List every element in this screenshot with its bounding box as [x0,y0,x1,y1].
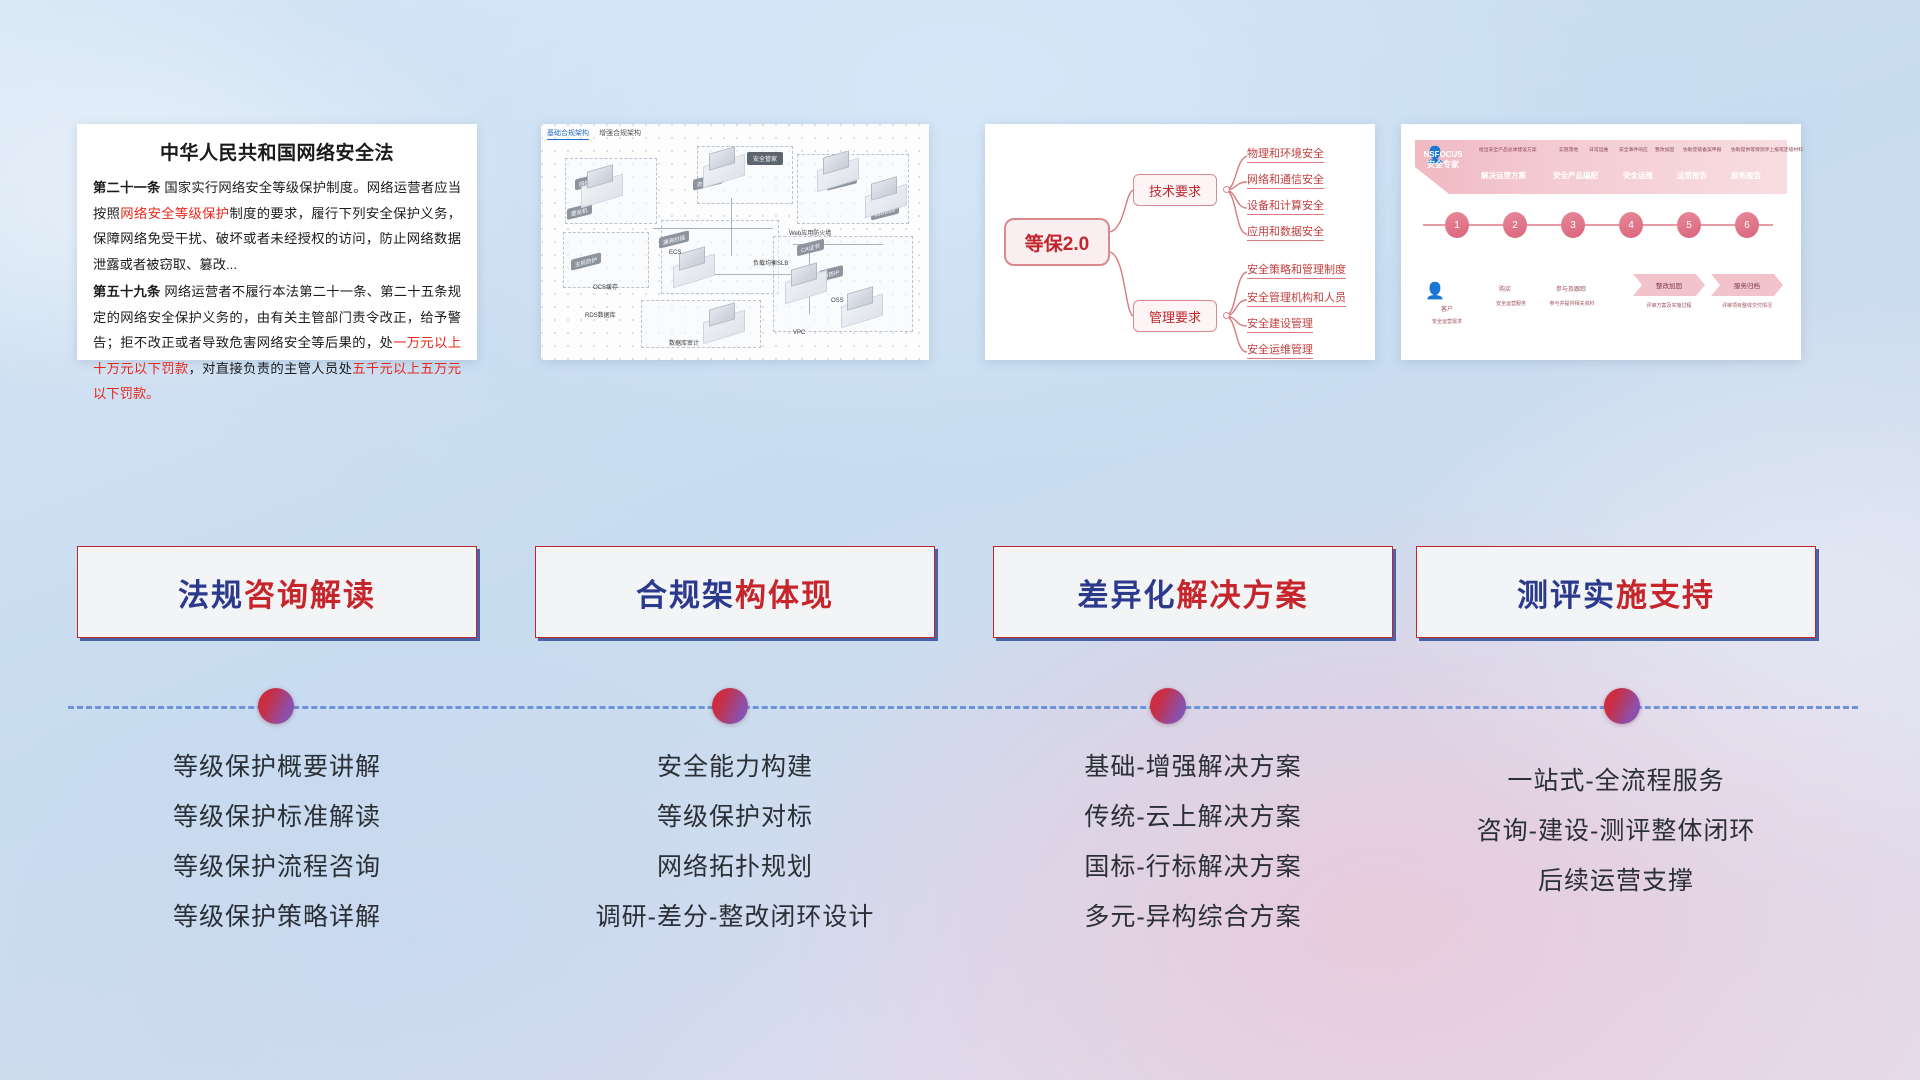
mindmap-dot-management [1223,312,1230,319]
list-item: 后续运营支撑 [1416,856,1816,906]
list-item: 等级保护流程咨询 [77,842,477,892]
roadmap-diagram: 👤 NSFOCUS 安全专家 给出安全产品总体建设方案 实施落地 日常运维 安全… [1401,124,1801,360]
mindmap-root: 等保2.0 [1004,218,1110,266]
roadmap-chevron-1-sub: 评审项目整体交付情况 [1707,302,1787,309]
roadmap-step-5: 5 [1677,212,1701,238]
roadmap-note-2: 日常运维 [1589,146,1608,153]
roadmap-tag-2: 安全运维 [1623,170,1653,181]
timeline-dot-1[interactable] [258,688,294,724]
customer-icon: 👤 [1427,280,1443,302]
label-rds: RDS数据库 [585,310,616,319]
card-service-roadmap[interactable]: 👤 NSFOCUS 安全专家 给出安全产品总体建设方案 实施落地 日常运维 安全… [1401,124,1801,360]
section-header-4-title: 测评实施支持 [1517,570,1715,615]
section-header-2-blue: 合规架 [636,578,735,613]
roadmap-chevron-0: 整改加固 [1633,274,1705,296]
timeline-dot-4[interactable] [1604,688,1640,724]
section-header-1-red: 咨询解读 [244,578,376,613]
timeline [0,688,1920,728]
mindmap-leaf-network-comm: 网络和通信安全 [1247,174,1324,189]
mindmap: 等保2.0 技术要求 物理和环境安全 网络和通信安全 设备和计算安全 应用和数据… [985,124,1375,360]
list-item: 等级保护策略详解 [77,892,477,942]
list-item: 调研-差分-整改闭环设计 [535,892,935,942]
roadmap-note-1: 实施落地 [1559,146,1578,153]
roadmap-tag-4: 服务报告 [1731,170,1761,181]
brand-sub: 安全专家 [1421,160,1465,170]
label-vpc: VPC [793,330,805,336]
roadmap-step-4: 4 [1619,212,1643,238]
law-article-59: 第五十九条 网络运营者不履行本法第二十一条、第二十五条规定的网络安全保护义务的，… [93,279,461,407]
mindmap-leaf-policy-system: 安全策略和管理制度 [1247,264,1346,279]
mindmap-leaf-construction: 安全建设管理 [1247,318,1313,333]
roadmap-step-3: 3 [1561,212,1585,238]
label-oss: OSS [831,298,844,304]
roadmap-chevron-1: 服务归档 [1711,274,1783,296]
section-header-2-title: 合规架构体现 [636,570,834,615]
list-item: 一站式-全流程服务 [1416,756,1816,806]
roadmap-footer-0: 购买 [1483,284,1527,293]
detail-list-1: 等级保护概要讲解 等级保护标准解读 等级保护流程咨询 等级保护策略详解 [77,742,477,942]
list-item: 网络拓扑规划 [535,842,935,892]
roadmap-step-2: 2 [1503,212,1527,238]
label-db-audit: 数据库审计 [669,338,699,347]
roadmap-tag-3: 运营报告 [1677,170,1707,181]
law-article-21: 第二十一条 国家实行网络安全等级保护制度。网络运营者应当按照网络安全等级保护制度… [93,175,461,277]
detail-lists-row: 等级保护概要讲解 等级保护标准解读 等级保护流程咨询 等级保护策略详解 安全能力… [0,742,1920,962]
section-header-3-blue: 差异化 [1078,578,1177,613]
brand-name: NSFOCUS [1421,150,1465,160]
tab-enhanced-compliance[interactable]: 增强合规架构 [599,128,641,140]
roadmap-note-4: 整改加固 [1655,146,1674,153]
section-header-1-title: 法规咨询解读 [178,570,376,615]
timeline-dot-3[interactable] [1150,688,1186,724]
card-cybersecurity-law[interactable]: 中华人民共和国网络安全法 第二十一条 国家实行网络安全等级保护制度。网络运营者应… [77,124,477,360]
section-header-4-blue: 测评实 [1517,578,1616,613]
architecture-diagram: 基础合规架构 增强合规架构 安全管家 态势感知 网络 1.0 堡垒机 内容安全 … [541,124,929,360]
list-item: 安全能力构建 [535,742,935,792]
wire-h1 [653,228,773,229]
list-item: 传统-云上解决方案 [993,792,1393,842]
list-item: 国标-行标解决方案 [993,842,1393,892]
roadmap-footer-role-note: 安全运营需求 [1411,318,1483,325]
mindmap-leaf-app-data: 应用和数据安全 [1247,226,1324,241]
roadmap-note-0: 给出安全产品总体建设方案 [1479,146,1537,153]
card-cloud-architecture[interactable]: 基础合规架构 增强合规架构 安全管家 态势感知 网络 1.0 堡垒机 内容安全 … [541,124,929,360]
roadmap-tag-0: 解决运营方案 [1481,170,1526,181]
roadmap-step-1: 1 [1445,212,1469,238]
mindmap-leaf-device-compute: 设备和计算安全 [1247,200,1324,215]
label-slb: 负载均衡SLB [753,258,788,267]
section-headers-row: 法规咨询解读 合规架构体现 差异化解决方案 测评实施支持 [0,546,1920,642]
detail-list-3: 基础-增强解决方案 传统-云上解决方案 国标-行标解决方案 多元-异构综合方案 [993,742,1393,942]
roadmap-footer-1-sub: 参与并提供相关资料 [1541,300,1603,307]
list-item: 等级保护对标 [535,792,935,842]
mindmap-branch-technical: 技术要求 [1133,174,1217,206]
mindmap-leaf-org-personnel: 安全管理机构和人员 [1247,292,1346,307]
list-item: 等级保护标准解读 [77,792,477,842]
card-mindmap-dengbao[interactable]: 等保2.0 技术要求 物理和环境安全 网络和通信安全 设备和计算安全 应用和数据… [985,124,1375,360]
roadmap-footer-1: 参与及跟踪 [1543,284,1599,293]
timeline-dashed-line [68,706,1858,709]
roadmap-chevron-0-sub: 评审方案及实施过程 [1629,302,1709,309]
tab-basic-compliance[interactable]: 基础合规架构 [547,128,589,140]
architecture-tabs: 基础合规架构 增强合规架构 [547,128,641,140]
mindmap-leaf-physical-env: 物理和环境安全 [1247,148,1324,163]
roadmap-note-3: 安全事件响应 [1619,146,1648,153]
section-header-4-red: 施支持 [1616,578,1715,613]
roadmap-footer-0-sub: 安全运营服务 [1483,300,1539,307]
mindmap-dot-technical [1223,186,1230,193]
roadmap-axis [1423,224,1773,226]
list-item: 等级保护概要讲解 [77,742,477,792]
roadmap-step-6: 6 [1735,212,1759,238]
list-item: 咨询-建设-测评整体闭环 [1416,806,1816,856]
section-header-1[interactable]: 法规咨询解读 [77,546,477,638]
reference-cards-row: 中华人民共和国网络安全法 第二十一条 国家实行网络安全等级保护制度。网络运营者应… [0,124,1920,364]
label-ocs-cache: OCS缓存 [593,282,618,291]
roadmap-footer-role: 客户 [1421,304,1473,313]
detail-list-4: 一站式-全流程服务 咨询-建设-测评整体闭环 后续运营支撑 [1416,742,1816,906]
roadmap-note-6: 协助提供等保测评上报或定级材料 [1731,146,1803,153]
timeline-dot-2[interactable] [712,688,748,724]
law-title: 中华人民共和国网络安全法 [93,138,461,165]
section-header-1-blue: 法规 [178,578,244,613]
article-21-highlight: 网络安全等级保护 [120,206,229,221]
label-waf: Web应用防火墙 [789,228,831,237]
law-document: 中华人民共和国网络安全法 第二十一条 国家实行网络安全等级保护制度。网络运营者应… [77,124,477,360]
roadmap-brand: NSFOCUS 安全专家 [1421,150,1465,169]
detail-list-2: 安全能力构建 等级保护对标 网络拓扑规划 调研-差分-整改闭环设计 [535,742,935,942]
section-header-2-red: 构体现 [735,578,834,613]
section-header-4[interactable]: 测评实施支持 [1416,546,1816,638]
label-ecs: ECS [669,250,681,256]
article-59-text-b: ，对直接负责的主管人员处 [189,361,353,376]
mindmap-leaf-operations: 安全运维管理 [1247,344,1313,359]
article-59-label: 第五十九条 [93,284,160,299]
section-header-3-title: 差异化解决方案 [1078,570,1309,615]
list-item: 基础-增强解决方案 [993,742,1393,792]
list-item: 多元-异构综合方案 [993,892,1393,942]
node-security-butler: 安全管家 [747,152,783,165]
section-header-3[interactable]: 差异化解决方案 [993,546,1393,638]
section-header-3-red: 解决方案 [1177,578,1309,613]
section-header-2[interactable]: 合规架构体现 [535,546,935,638]
mindmap-branch-management: 管理要求 [1133,300,1217,332]
wire-v1 [731,198,732,256]
article-21-label: 第二十一条 [93,180,160,195]
roadmap-note-5: 协助定级备案申报 [1683,146,1721,153]
roadmap-tag-1: 安全产品编配 [1553,170,1598,181]
